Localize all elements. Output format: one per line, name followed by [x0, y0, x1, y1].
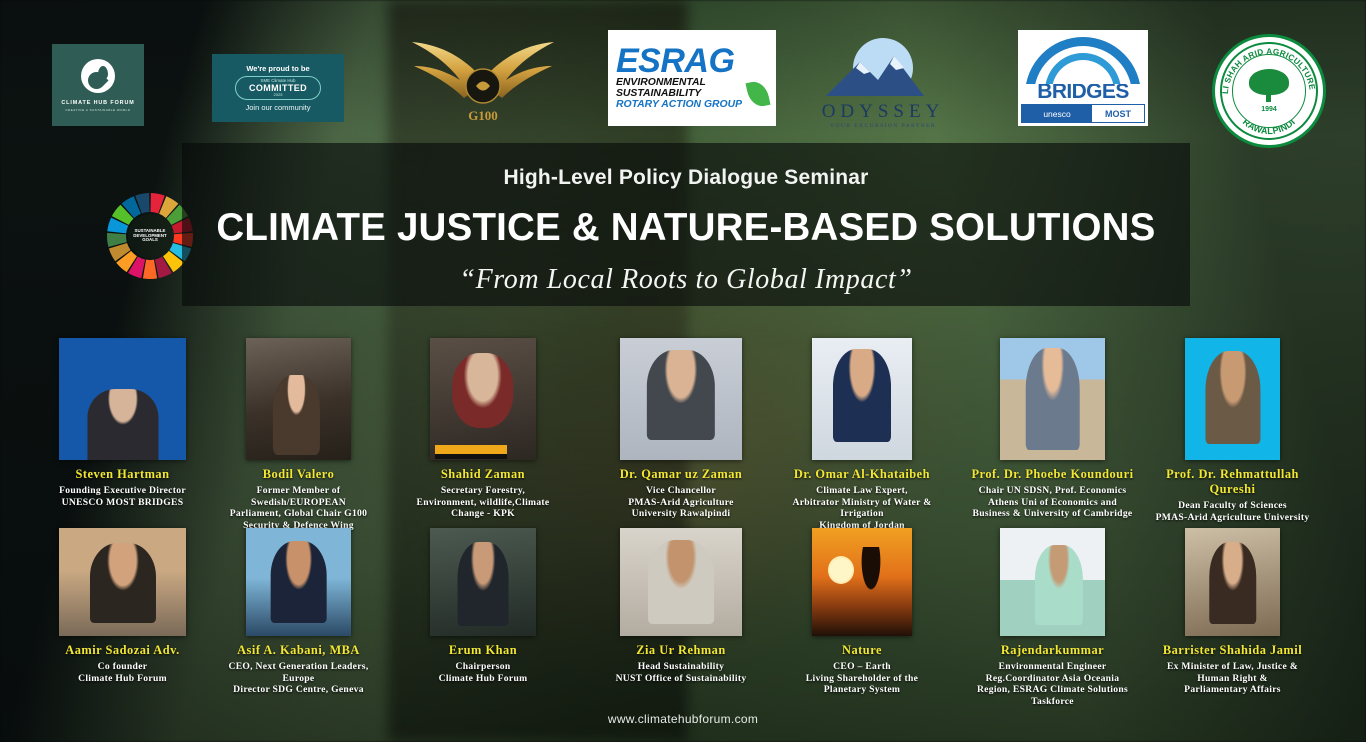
speaker-card: Prof. Dr. Phoebe KoundouriChair UN SDSN,…: [970, 338, 1135, 520]
speaker-name: Prof. Dr. Phoebe Koundouri: [971, 467, 1133, 482]
speaker-role: Co founderClimate Hub Forum: [78, 661, 167, 684]
speaker-role: Climate Law Expert,Arbitrator Ministry o…: [792, 485, 931, 532]
speaker-photo: [59, 528, 186, 636]
speaker-card: Zia Ur RehmanHead SustainabilityNUST Off…: [590, 528, 772, 684]
speaker-role: Chair UN SDSN, Prof. EconomicsAthens Uni…: [973, 485, 1133, 520]
page-title: CLIMATE JUSTICE & NATURE-BASED SOLUTIONS: [182, 206, 1190, 250]
speaker-name: Shahid Zaman: [441, 467, 525, 482]
speaker-name: Erum Khan: [449, 643, 517, 658]
seminar-kicker: High-Level Policy Dialogue Seminar: [182, 166, 1190, 190]
speaker-photo: [812, 528, 912, 636]
g100-wordmark: G100: [468, 108, 498, 123]
speaker-role: Environmental EngineerReg.Coordinator As…: [977, 661, 1128, 708]
odyssey-tagline: YOUR EXCURSION PARTNER: [808, 123, 958, 129]
speaker-role: CEO – EarthLiving Shareholder of thePlan…: [806, 661, 918, 696]
speaker-role: CEO, Next Generation Leaders,EuropeDirec…: [228, 661, 368, 696]
speaker-card: Bodil ValeroFormer Member ofSwedish/EURO…: [216, 338, 381, 532]
most-label: MOST: [1092, 105, 1144, 122]
speaker-name: Asif A. Kabani, MBA: [237, 643, 360, 658]
sme-badge-bottom-text: Join our community: [245, 103, 310, 112]
speaker-name: Prof. Dr. Rehmattullah Qureshi: [1155, 467, 1310, 497]
speaker-name: Barrister Shahida Jamil: [1163, 643, 1302, 658]
speaker-card: NatureCEO – EarthLiving Shareholder of t…: [782, 528, 942, 696]
speaker-photo: [620, 338, 742, 460]
unesco-label: unesco: [1022, 105, 1092, 122]
speaker-photo: [59, 338, 186, 460]
speaker-photo: [1000, 528, 1105, 636]
speaker-photo: [246, 338, 351, 460]
speaker-role: Vice ChancellorPMAS-Arid AgricultureUniv…: [628, 485, 734, 520]
speaker-card: Steven HartmanFounding Executive Directo…: [29, 338, 216, 508]
mountain-sun-icon: [808, 34, 958, 96]
arid-agriculture-university-seal: PIR MEHR ALI SHAH ARID AGRICULTURE UNIVE…: [1212, 34, 1326, 148]
speaker-role: Secretary Forestry,Environment, wildlife…: [417, 485, 550, 520]
tree-icon: [1249, 69, 1289, 95]
green-leaf-icon: [746, 79, 771, 109]
sdg-wheel-center: SUSTAINABLE DEVELOPMENT GOALS: [128, 214, 172, 258]
esrag-logo: ESRAG ENVIRONMENTAL SUSTAINABILITY ROTAR…: [608, 30, 776, 126]
speaker-card: Shahid ZamanSecretary Forestry,Environme…: [400, 338, 566, 520]
seal-year: 1994: [1261, 106, 1277, 113]
bridge-arch-icon: [1021, 33, 1145, 84]
speaker-role: Dean Faculty of SciencesPMAS-Arid Agricu…: [1156, 500, 1310, 523]
g100-wings-logo: G100: [398, 24, 568, 132]
speaker-photo: [1185, 338, 1280, 460]
seal-inner-disc: 1994: [1232, 54, 1306, 128]
sme-climate-hub-badge: We're proud to be SME Climate Hub COMMIT…: [212, 54, 344, 122]
odyssey-wordmark: ODYSSEY: [808, 101, 958, 123]
speaker-photo: [246, 528, 351, 636]
speaker-role: Head SustainabilityNUST Office of Sustai…: [616, 661, 747, 684]
speaker-name: Dr. Qamar uz Zaman: [620, 467, 743, 482]
speaker-card: Prof. Dr. Rehmattullah QureshiDean Facul…: [1155, 338, 1310, 523]
odyssey-logo: ODYSSEY YOUR EXCURSION PARTNER: [808, 34, 958, 126]
speaker-card: Aamir Sadozai Adv.Co founderClimate Hub …: [29, 528, 216, 684]
speaker-name: Zia Ur Rehman: [636, 643, 726, 658]
speaker-name: Aamir Sadozai Adv.: [65, 643, 179, 658]
speaker-card: Erum KhanChairpersonClimate Hub Forum: [400, 528, 566, 684]
speaker-photo: [1185, 528, 1280, 636]
speaker-photo: [620, 528, 742, 636]
sdg-wheel-icon: SUSTAINABLE DEVELOPMENT GOALS: [106, 192, 194, 280]
speaker-photo: [430, 528, 536, 636]
speaker-name: Rajendarkummar: [1001, 643, 1104, 658]
golden-wings-icon: G100: [398, 24, 568, 132]
sponsor-logo-strip: CLIMATE HUB FORUM CREATING A SUSTAINABLE…: [0, 0, 1366, 148]
bridges-wordmark: BRIDGES: [1021, 82, 1145, 102]
seminar-tagline: “From Local Roots to Global Impact”: [182, 264, 1190, 296]
speaker-card: Barrister Shahida JamilEx Minister of La…: [1155, 528, 1310, 696]
title-band: High-Level Policy Dialogue Seminar CLIMA…: [182, 143, 1190, 306]
sme-badge-year: 2025: [249, 93, 307, 97]
speaker-role: Founding Executive DirectorUNESCO MOST B…: [59, 485, 186, 508]
esrag-wordmark: ESRAG: [616, 46, 768, 77]
speaker-photo: [812, 338, 912, 460]
chf-logo-name: CLIMATE HUB FORUM: [61, 100, 134, 106]
sdg-wheel-label: SUSTAINABLE DEVELOPMENT GOALS: [128, 229, 172, 244]
speaker-role: Former Member ofSwedish/EUROPEANParliame…: [230, 485, 368, 532]
speaker-name: Dr. Omar Al-Khataibeh: [794, 467, 930, 482]
speaker-card: RajendarkummarEnvironmental EngineerReg.…: [970, 528, 1135, 708]
speaker-photo: [1000, 338, 1105, 460]
sme-badge-top-text: We're proud to be: [246, 64, 309, 73]
climate-hub-forum-logo: CLIMATE HUB FORUM CREATING A SUSTAINABLE…: [52, 44, 144, 126]
website-url: www.climatehubforum.com: [0, 712, 1366, 726]
speaker-name: Bodil Valero: [263, 467, 335, 482]
speaker-photo: [430, 338, 536, 460]
speaker-role: Ex Minister of Law, Justice &Human Right…: [1167, 661, 1298, 696]
speaker-name: Nature: [842, 643, 882, 658]
esrag-line-1: ENVIRONMENTAL: [616, 77, 742, 88]
leaf-drop-icon: [81, 59, 115, 93]
event-poster: CLIMATE HUB FORUM CREATING A SUSTAINABLE…: [0, 0, 1366, 742]
speaker-card: Dr. Omar Al-KhataibehClimate Law Expert,…: [782, 338, 942, 532]
sme-badge-pill: SME Climate Hub COMMITTED 2025: [235, 76, 321, 100]
bridges-unesco-most-logo: BRIDGES unesco MOST: [1018, 30, 1148, 126]
esrag-line-2: SUSTAINABILITY: [616, 88, 742, 99]
speaker-role: ChairpersonClimate Hub Forum: [439, 661, 528, 684]
chf-logo-tagline: CREATING A SUSTAINABLE WORLD: [65, 108, 130, 112]
esrag-line-3: ROTARY ACTION GROUP: [616, 99, 742, 110]
speaker-card: Asif A. Kabani, MBACEO, Next Generation …: [216, 528, 381, 696]
speaker-name: Steven Hartman: [75, 467, 169, 482]
speaker-card: Dr. Qamar uz ZamanVice ChancellorPMAS-Ar…: [590, 338, 772, 520]
